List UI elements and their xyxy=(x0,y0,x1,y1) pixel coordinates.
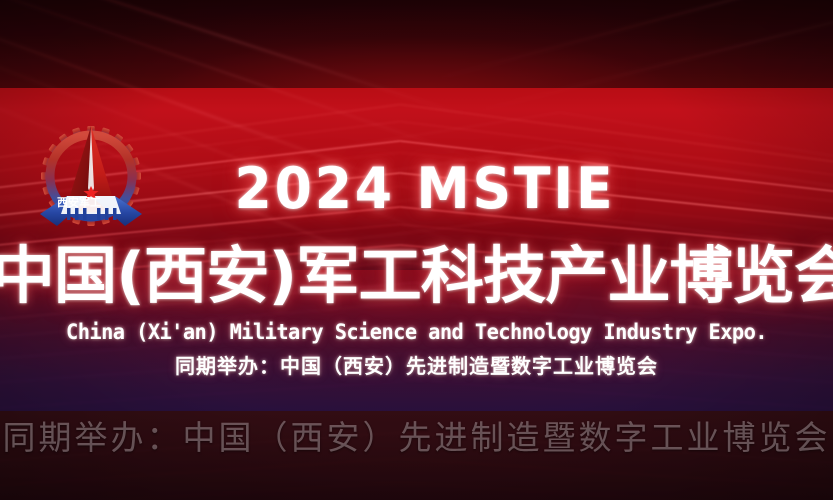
wing-notch xyxy=(83,208,87,220)
background-top-dark-band xyxy=(0,0,833,88)
wing-notch xyxy=(105,208,109,220)
page-title-chinese: 中国(西安)军工科技产业博览会 xyxy=(0,243,833,309)
gear-rocket-emblem-icon: 西安军工 xyxy=(27,110,155,238)
subtitle-english: China (Xi'an) Military Science and Techn… xyxy=(12,320,820,344)
wing-notch xyxy=(97,208,101,220)
subtitle-chinese: 同期举办：中国（西安）先进制造暨数字工业博览会 xyxy=(0,354,833,378)
footer-chinese-watermark: 同期举办：中国（西安）先进制造暨数字工业博览会 xyxy=(0,418,833,458)
expo-banner: 西安军工 2024 MSTIE 中国(西安)军工科技产业博览会 China (X… xyxy=(0,0,833,500)
wing-notch xyxy=(75,208,79,220)
expo-logo: 西安军工 xyxy=(27,110,155,238)
wing-notch xyxy=(113,208,117,220)
wing-notch xyxy=(67,208,71,220)
page-title-english: 2024 MSTIE xyxy=(204,158,646,220)
logo-inner-text-left: 西安军工 xyxy=(57,195,101,209)
